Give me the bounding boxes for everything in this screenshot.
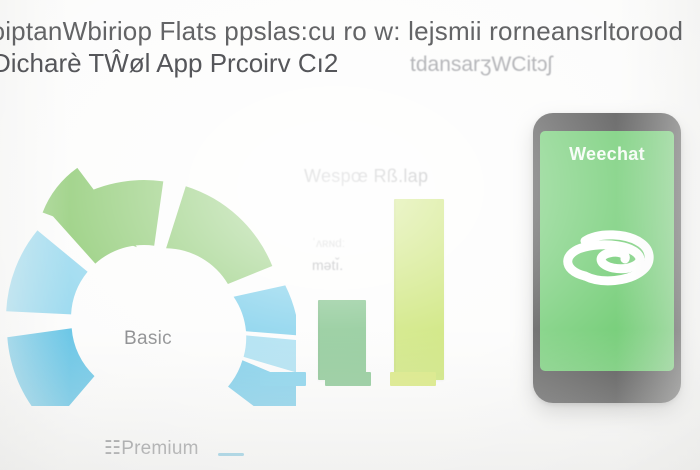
donut-wedge-premium-left[interactable] [7, 328, 94, 406]
donut-wedge-standard[interactable] [6, 230, 87, 314]
donut-wedge-basic-small[interactable] [52, 180, 163, 264]
header-subtitle-right: tdansarʒWCitɔʃ [410, 52, 552, 78]
phone-app-title: Weechat [540, 144, 674, 165]
phone-screen[interactable]: Weechat [540, 131, 674, 371]
legend-swatch-cyan[interactable] [260, 372, 306, 386]
bar-chart: Wespœ Rß.lap ˈʌʀɴdː mətı̌. [296, 152, 496, 402]
screenshot-canvas: ɔiptanWbiriop Flats ppslas:cu ro w: lejs… [0, 0, 700, 470]
donut-center-label-basic: Basic [124, 328, 172, 350]
weechat-spiral-logo-icon [555, 214, 659, 292]
donut-chart: Basic ☷Premium ʕʌı:ʔøк· Hasјʃonamelds [0, 112, 296, 402]
phone-mockup: Weechat [533, 113, 681, 403]
bar-chart-bar-1[interactable] [318, 300, 366, 380]
header-title-line-1: ɔiptanWbiriop Flats ppslas:cu ro w: lejs… [0, 16, 700, 46]
donut-wedge-basic-large[interactable] [166, 186, 272, 284]
header-title-line-2: Dicharè TŴøl App Prcoirv Cı2 [0, 48, 338, 78]
bar-annotation-line-2: mətı̌. [312, 254, 396, 276]
donut-callout-label-premium: ☷Premium [104, 437, 199, 460]
legend-swatch-green[interactable] [325, 372, 371, 386]
donut-wedge-premium-right-top[interactable] [234, 285, 296, 335]
bar-annotation-line-1: ˈʌʀɴdː [312, 232, 396, 254]
donut-callout-leader-line [218, 453, 244, 456]
donut-chart-arcs [0, 106, 296, 406]
legend-swatch-lime[interactable] [390, 372, 436, 386]
bar-chart-title: Wespœ Rß.lap [304, 166, 428, 187]
bar-chart-bar-2[interactable] [394, 199, 444, 380]
bar-chart-annotation: ˈʌʀɴdː mətı̌. [312, 232, 396, 276]
